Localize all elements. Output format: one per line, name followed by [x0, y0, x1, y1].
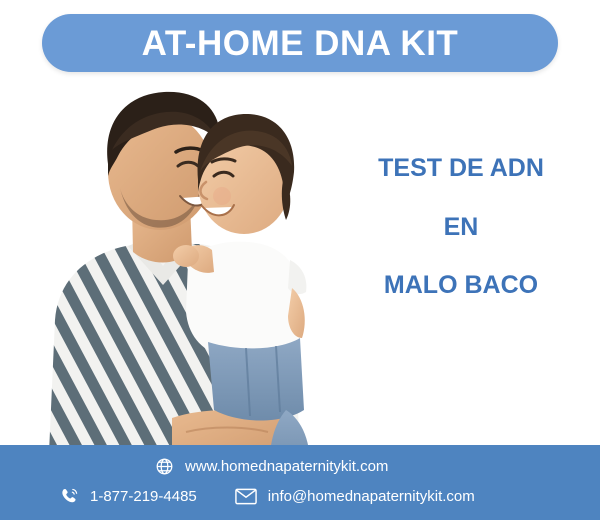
- poster-canvas: AT-HOME DNA KIT: [0, 0, 600, 520]
- footer-contact-row: 1-877-219-4485 info@homednapaternitykit.…: [60, 487, 475, 506]
- family-photo: [0, 80, 340, 475]
- footer-website-item[interactable]: www.homednapaternitykit.com: [155, 457, 388, 476]
- envelope-icon: [235, 488, 257, 505]
- headline-block: TEST DE ADN EN MALO BACO: [330, 155, 592, 300]
- website-label: www.homednapaternitykit.com: [185, 459, 388, 474]
- footer-bar: www.homednapaternitykit.com 1-877-219-44…: [0, 445, 600, 520]
- header-banner: AT-HOME DNA KIT: [42, 14, 558, 72]
- phone-label: 1-877-219-4485: [90, 489, 197, 504]
- headline-line-2: EN: [330, 214, 592, 242]
- email-label: info@homednapaternitykit.com: [268, 489, 475, 504]
- globe-icon: [155, 457, 174, 476]
- phone-icon: [60, 487, 79, 506]
- headline-line-1: TEST DE ADN: [330, 155, 592, 183]
- headline-line-3: MALO BACO: [330, 272, 592, 300]
- family-photo-illustration: [0, 80, 340, 475]
- page-title: AT-HOME DNA KIT: [142, 26, 459, 61]
- footer-email-item[interactable]: info@homednapaternitykit.com: [235, 488, 475, 505]
